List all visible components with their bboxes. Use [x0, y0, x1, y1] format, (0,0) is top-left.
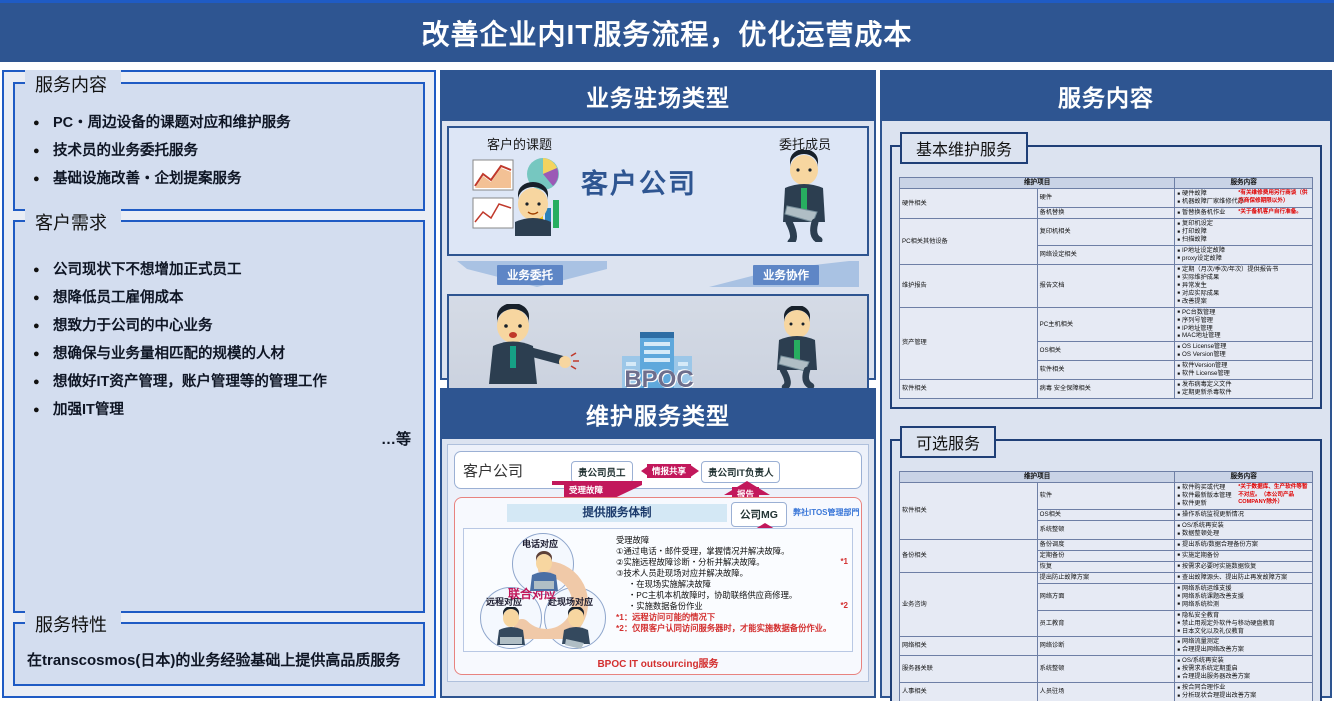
- table-cell-item: 报告文档: [1037, 264, 1175, 307]
- table-row: 硬件相关硬件硬件故障机器故障厂家维修代办*有关维修费用另行商谈（供应商保修期限以…: [900, 189, 1313, 208]
- content-bullet: 异常发生: [1177, 282, 1310, 290]
- circle-phone-label: 电话对应: [522, 537, 558, 550]
- table-cell-category: 软件相关: [900, 380, 1038, 399]
- table-cell-category: 服务器关联: [900, 656, 1038, 683]
- panel-service-content-header: 服务内容: [882, 72, 1330, 121]
- process-sub: ・PC主机本机故障时，协助联络供应商修理。: [616, 590, 848, 601]
- content-bullet: 按需求系统定期重启: [1177, 665, 1310, 673]
- table-cell-item: 恢复: [1037, 561, 1175, 572]
- table-cell-item: OS相关: [1037, 342, 1175, 361]
- table-cell-item: 复印机相关: [1037, 219, 1175, 246]
- table-cell-item: OS相关: [1037, 510, 1175, 521]
- section-service-feature: 服务特性 在transcosmos(日本)的业务经验基础上提供高品质服务: [13, 622, 425, 686]
- process-description: 受理故障 ①通过电话・邮件受理，掌握情况并解决故障。 ②实施远程故障诊断・分析并…: [616, 535, 848, 634]
- process-step: ①通过电话・邮件受理，掌握情况并解决故障。: [616, 546, 848, 557]
- content-bullet: 数据整顿处理: [1177, 530, 1310, 538]
- info-share-label: 情报共享: [647, 464, 691, 478]
- content-bullet: proxy设定故障: [1177, 255, 1310, 263]
- table-row: 资产管理PC主机相关PC台数管理序列号管理IP地址管理MAC地址管理: [900, 307, 1313, 342]
- content-bullet: 网络系统课题改善支援: [1177, 593, 1310, 601]
- column-header-content: 服务内容: [1175, 178, 1313, 189]
- table-cell-item: 软件: [1037, 483, 1175, 510]
- table-cell-category: 备份相关: [900, 540, 1038, 573]
- optional-services-table: 维护项目 服务内容 软件相关软件软件购买或代理软件最新版本管理软件更新*关于数据…: [899, 471, 1313, 701]
- service-system-band: 提供服务体制: [507, 504, 727, 522]
- list-item: 想降低员工雇佣成本: [33, 288, 411, 309]
- process-step: ③技术人员赴现场对应并解决故障。: [616, 568, 848, 579]
- section-service-content: 服务内容 PC・周边设备的课题对应和维护服务 技术员的业务委托服务 基础设施改善…: [13, 82, 425, 211]
- table-row: 软件相关病毒 安全保障相关发布病毒定义文件定期更新杀毒软件: [900, 380, 1313, 399]
- our-manager-illustration: [483, 304, 579, 386]
- process-mark-2: *2: [840, 601, 848, 610]
- panel-maintenance-type: 维护服务类型 客户公司 贵公司员工 贵公司IT负责人 情报共享 受理故障: [440, 388, 876, 698]
- slide-title-bar: 改善企业内IT服务流程，优化运营成本: [0, 0, 1334, 62]
- content-bullet: OS Version管理: [1177, 351, 1310, 359]
- content-bullet: 改善提案: [1177, 298, 1310, 306]
- onsite-arrow-band: 业务委托 业务协作: [447, 261, 869, 289]
- slide-root: 改善企业内IT服务流程，优化运营成本 服务内容 PC・周边设备的课题对应和维护服…: [0, 0, 1334, 701]
- table-cell-item: 软件相关: [1037, 361, 1175, 380]
- table-cell-item: 病毒 安全保障相关: [1037, 380, 1175, 399]
- onsite-customer-scene: 客户的课题 委托成员 客户公司: [447, 126, 869, 256]
- section-optional-services-label: 可选服务: [900, 426, 996, 458]
- table-cell-content: 硬件故障机器故障厂家维修代办*有关维修费用另行商谈（供应商保修期限以外）: [1175, 189, 1313, 208]
- list-item: 公司现状下不想增加正式员工: [33, 260, 411, 281]
- table-cell-item: 系统整顿: [1037, 656, 1175, 683]
- content-bullet: 定期（月次/季次/年次）提供报告书: [1177, 266, 1310, 274]
- customer-needs-list: 公司现状下不想增加正式员工 想降低员工雇佣成本 想致力于公司的中心业务 想确保与…: [27, 260, 411, 421]
- table-cell-item: 提出防止故障方案: [1037, 572, 1175, 583]
- list-item: 想做好IT资产管理，账户管理等的管理工作: [33, 372, 411, 393]
- table-cell-content: 暂替换备机作业*关于备机客户自行准备。: [1175, 208, 1313, 219]
- content-bullet: 隐私安全教育: [1177, 612, 1310, 620]
- content-bullet: 禁止用规定外软件与移动硬盘教育: [1177, 620, 1310, 628]
- process-note: *2：仅限客户认同访问服务器时，才能实施数据备份作业。: [616, 623, 848, 634]
- column-header-item: 维护项目: [900, 472, 1175, 483]
- content-bullet: 按需求必要时实施数据恢复: [1177, 563, 1310, 571]
- table-header-row: 维护项目 服务内容: [900, 178, 1313, 189]
- panel-service-content: 服务内容 基本维护服务 维护项目 服务内容 硬件相关硬件硬件故障机器故障厂家维修…: [880, 70, 1332, 698]
- table-row: 备份相关备份调度提出系统/数据合理备份方案: [900, 540, 1313, 551]
- customer-company-label: 客户公司: [581, 162, 697, 201]
- table-cell-item: 备份调度: [1037, 540, 1175, 551]
- process-sub: ・实施数据备份作业: [616, 601, 848, 612]
- content-bullet: 复印机设定: [1177, 220, 1310, 228]
- content-bullet: 合理提出服务器改善方案: [1177, 673, 1310, 681]
- table-cell-item: 网络设定相关: [1037, 246, 1175, 265]
- table-cell-content: 软件购买或代理软件最新版本管理软件更新*关于数据库、生产软件等暂不对应。（本公司…: [1175, 483, 1313, 510]
- table-cell-item: 系统整顿: [1037, 521, 1175, 540]
- content-bullet: 按合同合理作业: [1177, 684, 1310, 692]
- content-note: *关于数据库、生产软件等暂不对应。（本公司产品COMPANY除外）: [1238, 484, 1312, 505]
- table-cell-item: PC主机相关: [1037, 307, 1175, 342]
- table-row: 软件相关软件软件购买或代理软件最新版本管理软件更新*关于数据库、生产软件等暂不对…: [900, 483, 1313, 510]
- service-scope-frame: 提供服务体制 公司MG 弊社ITOS管理部門 报告 公司负责人: [454, 497, 862, 675]
- table-cell-category: 业务咨询: [900, 572, 1038, 637]
- content-bullet: 查出故障源头、提出防止再发故障方案: [1177, 574, 1310, 582]
- onsite-agent-illustration: [558, 607, 594, 649]
- table-cell-content: 隐私安全教育禁止用规定外软件与移动硬盘教育日本文化以及礼仪教育: [1175, 610, 1313, 637]
- table-cell-item: 网络方面: [1037, 583, 1175, 610]
- content-note: *有关维修费用另行商谈（供应商保修期限以外）: [1238, 190, 1312, 204]
- content-bullet: 软件Version管理: [1177, 362, 1310, 370]
- maintenance-customer-company-label: 客户公司: [463, 460, 523, 481]
- table-cell-content: OS License管理OS Version管理: [1175, 342, 1313, 361]
- table-cell-content: 发布病毒定义文件定期更新杀毒软件: [1175, 380, 1313, 399]
- table-cell-content: IP地址设定故障proxy设定故障: [1175, 246, 1313, 265]
- section-basic-maintenance-label: 基本维护服务: [900, 132, 1028, 164]
- accept-fault-label: 受理故障: [564, 483, 608, 497]
- response-methods-frame: 电话对应 远程对应 赴现场对应 联合对应: [463, 528, 853, 652]
- right-column: 服务内容 基本维护服务 维护项目 服务内容 硬件相关硬件硬件故障机器故障厂家维修…: [880, 70, 1332, 698]
- content-bullet: 提出系统/数据合理备份方案: [1177, 541, 1310, 549]
- table-cell-item: 定期备份: [1037, 551, 1175, 562]
- table-cell-content: 提出系统/数据合理备份方案: [1175, 540, 1313, 551]
- panel-maintenance-header: 维护服务类型: [442, 390, 874, 439]
- process-step: ②实施远程故障诊断・分析并解决故障。: [616, 557, 848, 568]
- content-bullet: 对应实际成果: [1177, 290, 1310, 298]
- table-cell-content: 网络系统运维支援网络系统课题改善支援网络系统检测: [1175, 583, 1313, 610]
- table-cell-content: OS/系统再安装按需求系统定期重启合理提出服务器改善方案: [1175, 656, 1313, 683]
- phone-agent-illustration: [526, 551, 562, 593]
- list-item: PC・周边设备的课题对应和维护服务: [33, 113, 411, 134]
- table-cell-category: PC相关其他设备: [900, 219, 1038, 265]
- customer-needs-etc: …等: [27, 428, 411, 449]
- table-row: 网络相关网络诊断网络流量测定合理提出网络改善方案: [900, 637, 1313, 656]
- entrusted-member-illustration: [771, 150, 837, 242]
- table-cell-content: PC台数管理序列号管理IP地址管理MAC地址管理: [1175, 307, 1313, 342]
- basic-maintenance-table: 维护项目 服务内容 硬件相关硬件硬件故障机器故障厂家维修代办*有关维修费用另行商…: [899, 177, 1313, 399]
- table-cell-item: 员工教育: [1037, 610, 1175, 637]
- itos-dept-label: 弊社ITOS管理部門: [793, 507, 860, 518]
- service-feature-text: 在transcosmos(日本)的业务经验基础上提供高品质服务: [27, 650, 411, 672]
- content-bullet: 实施定期备份: [1177, 552, 1310, 560]
- left-panel: 服务内容 PC・周边设备的课题对应和维护服务 技术员的业务委托服务 基础设施改善…: [2, 70, 436, 698]
- section-service-content-label: 服务内容: [25, 70, 121, 98]
- table-cell-category: 网络相关: [900, 637, 1038, 656]
- table-cell-category: 人事相关: [900, 683, 1038, 701]
- section-optional-services: 可选服务 维护项目 服务内容 软件相关软件软件购买或代理软件最新版本管理软件更新…: [890, 439, 1322, 701]
- table-cell-item: 网络诊断: [1037, 637, 1175, 656]
- table-cell-content: 复印机设定打印故障扫描故障: [1175, 219, 1313, 246]
- panel-onsite-type: 业务驻场类型 客户的课题 委托成员 客户公司: [440, 70, 876, 380]
- content-bullet: IP地址设定故障: [1177, 247, 1310, 255]
- maintenance-diagram: 客户公司 贵公司员工 贵公司IT负责人 情报共享 受理故障 报告: [447, 444, 869, 682]
- basic-maintenance-body: 硬件相关硬件硬件故障机器故障厂家维修代办*有关维修费用另行商谈（供应商保修期限以…: [900, 189, 1313, 399]
- content-bullet: 序列号管理: [1177, 317, 1310, 325]
- table-cell-category: 资产管理: [900, 307, 1038, 380]
- middle-column: 业务驻场类型 客户的课题 委托成员 客户公司: [440, 70, 876, 698]
- table-cell-content: 实施定期备份: [1175, 551, 1313, 562]
- content-bullet: 发布病毒定义文件: [1177, 381, 1310, 389]
- section-basic-maintenance: 基本维护服务 维护项目 服务内容 硬件相关硬件硬件故障机器故障厂家维修代办*有关…: [890, 145, 1322, 409]
- section-service-feature-label: 服务特性: [25, 610, 121, 638]
- content-bullet: 网络系统运维支援: [1177, 585, 1310, 593]
- process-sub: ・在现场实施解决故障: [616, 579, 848, 590]
- your-it-owner-pill: 贵公司IT负责人: [701, 461, 780, 483]
- section-customer-needs: 客户需求 公司现状下不想增加正式员工 想降低员工雇佣成本 想致力于公司的中心业务…: [13, 220, 425, 613]
- table-row: PC相关其他设备复印机相关复印机设定打印故障扫描故障: [900, 219, 1313, 246]
- section-customer-needs-label: 客户需求: [25, 208, 121, 236]
- table-row: 人事相关人员驻场按合同合理作业分析现状合理提出改善方案: [900, 683, 1313, 701]
- column-header-content: 服务内容: [1175, 472, 1313, 483]
- table-cell-item: 硬件: [1037, 189, 1175, 208]
- service-content-list: PC・周边设备的课题对应和维护服务 技术员的业务委托服务 基础设施改善・企划提案…: [27, 113, 411, 190]
- content-bullet: 扫描故障: [1177, 236, 1310, 244]
- content-bullet: PC台数管理: [1177, 309, 1310, 317]
- table-cell-item: 人员驻场: [1037, 683, 1175, 701]
- customer-issue-label: 客户的课题: [487, 134, 552, 153]
- table-cell-category: 软件相关: [900, 483, 1038, 540]
- list-item: 技术员的业务委托服务: [33, 141, 411, 162]
- customer-company-frame: 客户公司 贵公司员工 贵公司IT负责人 情报共享: [454, 451, 862, 489]
- list-item: 基础设施改善・企划提案服务: [33, 169, 411, 190]
- table-cell-content: 定期（月次/季次/年次）提供报告书实际维护成果异常发生对应实际成果改善提案: [1175, 264, 1313, 307]
- content-bullet: 操作系统监视更新情况: [1177, 511, 1310, 519]
- column-header-item: 维护项目: [900, 178, 1175, 189]
- content-bullet: 打印故障: [1177, 228, 1310, 236]
- table-row: 业务咨询提出防止故障方案查出故障源头、提出防止再发故障方案: [900, 572, 1313, 583]
- content-note: *关于备机客户自行准备。: [1238, 209, 1302, 216]
- content-bullet: 软件 License管理: [1177, 370, 1310, 378]
- list-item: 想致力于公司的中心业务: [33, 316, 411, 337]
- content-bullet: 网络系统检测: [1177, 601, 1310, 609]
- table-cell-content: 网络流量测定合理提出网络改善方案: [1175, 637, 1313, 656]
- table-cell-content: 软件Version管理软件 License管理: [1175, 361, 1313, 380]
- content-bullet: 分析现状合理提出改善方案: [1177, 692, 1310, 700]
- table-cell-category: 维护报告: [900, 264, 1038, 307]
- left-column: 服务内容 PC・周边设备的课题对应和维护服务 技术员的业务委托服务 基础设施改善…: [2, 70, 436, 698]
- table-cell-content: OS/系统再安装数据整顿处理: [1175, 521, 1313, 540]
- page-title: 改善企业内IT服务流程，优化运营成本: [422, 13, 913, 53]
- process-heading: 受理故障: [616, 535, 848, 546]
- list-item: 想确保与业务量相匹配的规模的人材: [33, 344, 411, 365]
- content-bullet: 实际维护成果: [1177, 274, 1310, 282]
- list-item: 加强IT管理: [33, 400, 411, 421]
- content-bullet: OS/系统再安装: [1177, 522, 1310, 530]
- table-cell-item: 备机替换: [1037, 208, 1175, 219]
- table-cell-content: 操作系统监视更新情况: [1175, 510, 1313, 521]
- optional-services-body: 软件相关软件软件购买或代理软件最新版本管理软件更新*关于数据库、生产软件等暂不对…: [900, 483, 1313, 701]
- table-cell-content: 按合同合理作业分析现状合理提出改善方案: [1175, 683, 1313, 701]
- table-header-row: 维护项目 服务内容: [900, 472, 1313, 483]
- arrow-cooperation-label: 业务协作: [753, 265, 819, 285]
- table-cell-content: 查出故障源头、提出防止再发故障方案: [1175, 572, 1313, 583]
- remote-agent-illustration: [492, 607, 530, 649]
- arrow-delegation-label: 业务委托: [497, 265, 563, 285]
- your-staff-pill: 贵公司员工: [571, 461, 633, 483]
- panel-onsite-header: 业务驻场类型: [442, 72, 874, 121]
- content-bullet: MAC地址管理: [1177, 332, 1310, 340]
- table-row: 维护报告报告文档定期（月次/季次/年次）提供报告书实际维护成果异常发生对应实际成…: [900, 264, 1313, 307]
- bpoc-outsourcing-footer: BPOC IT outsourcing服务: [455, 655, 861, 670]
- content-bullet: 定期更新杀毒软件: [1177, 389, 1310, 397]
- content-bullet: 日本文化以及礼仪教育: [1177, 628, 1310, 636]
- content-bullet: 合理提出网络改善方案: [1177, 646, 1310, 654]
- table-cell-category: 硬件相关: [900, 189, 1038, 219]
- table-cell-content: 按需求必要时实施数据恢复: [1175, 561, 1313, 572]
- process-mark-1: *1: [840, 557, 848, 566]
- process-note: *1：远程访问可能的情况下: [616, 612, 848, 623]
- customer-issue-illustration: [471, 156, 591, 236]
- table-row: 服务器关联系统整顿OS/系统再安装按需求系统定期重启合理提出服务器改善方案: [900, 656, 1313, 683]
- our-owner-illustration: [765, 306, 829, 388]
